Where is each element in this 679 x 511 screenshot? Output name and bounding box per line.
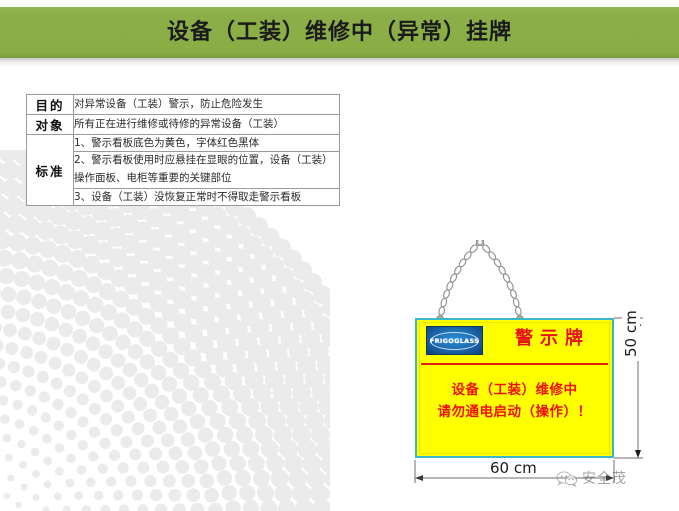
- table-row-label-object: 对象: [27, 115, 74, 135]
- table-cell-standard-item-2: 2、警示看板使用时应悬挂在显眼的位置，设备（工装）操作面板、电柜等重要的关键部位: [74, 152, 340, 189]
- page-title: 设备（工装）维修中（异常）挂牌: [167, 22, 512, 44]
- wechat-bubble-icon: [556, 470, 578, 487]
- table-row: 对象 所有正在进行维修或待修的异常设备（工装）: [27, 115, 340, 135]
- table-row: 2、警示看板使用时应悬挂在显眼的位置，设备（工装）操作面板、电柜等重要的关键部位: [27, 152, 340, 189]
- table-row: 标准 1、警示看板底色为黄色，字体红色黑体: [27, 135, 340, 152]
- dimension-height-label: 50 cm: [622, 306, 640, 361]
- warning-sign-figure: 60 cm 50 cm FRIGOGLASS 警示牌 设备（工装）维修中 请勿通…: [398, 240, 679, 511]
- table-row: 3、设备（工装）没恢复正常时不得取走警示看板: [27, 188, 340, 205]
- header-bar: 设备（工装）维修中（异常）挂牌: [0, 7, 679, 58]
- specification-table: 目的 对异常设备（工装）警示，防止危险发生 对象 所有正在进行维修或待修的异常设…: [26, 94, 340, 206]
- watermark-text: 安全茂: [582, 468, 627, 488]
- sign-divider-line: [421, 363, 608, 365]
- sign-heading-text: 警示牌: [489, 327, 609, 351]
- dimension-width-label: 60 cm: [484, 459, 543, 477]
- sign-body-text: 设备（工装）维修中 请勿通电启动（操作）！: [417, 380, 612, 423]
- warning-sign-board: FRIGOGLASS 警示牌 设备（工装）维修中 请勿通电启动（操作）！: [415, 318, 614, 458]
- table-cell-purpose-value: 对异常设备（工装）警示，防止危险发生: [74, 95, 340, 115]
- table-row-label-purpose: 目的: [27, 95, 74, 115]
- table-row-label-standard: 标准: [27, 135, 74, 206]
- sign-header-band: FRIGOGLASS 警示牌: [417, 320, 612, 361]
- table-cell-standard-item-1: 1、警示看板底色为黄色，字体红色黑体: [74, 135, 340, 152]
- table-cell-standard-item-3: 3、设备（工装）没恢复正常时不得取走警示看板: [74, 188, 340, 205]
- watermark: 安全茂: [556, 468, 627, 488]
- sign-body-line-1: 设备（工装）维修中: [417, 380, 612, 402]
- table-row: 目的 对异常设备（工装）警示，防止危险发生: [27, 95, 340, 115]
- sign-body-line-2: 请勿通电启动（操作）！: [417, 402, 612, 424]
- header-shadow: [0, 58, 679, 67]
- frigoglass-logo: FRIGOGLASS: [426, 326, 483, 355]
- table-cell-object-value: 所有正在进行维修或待修的异常设备（工装）: [74, 115, 340, 135]
- logo-ring-shape: [430, 332, 479, 350]
